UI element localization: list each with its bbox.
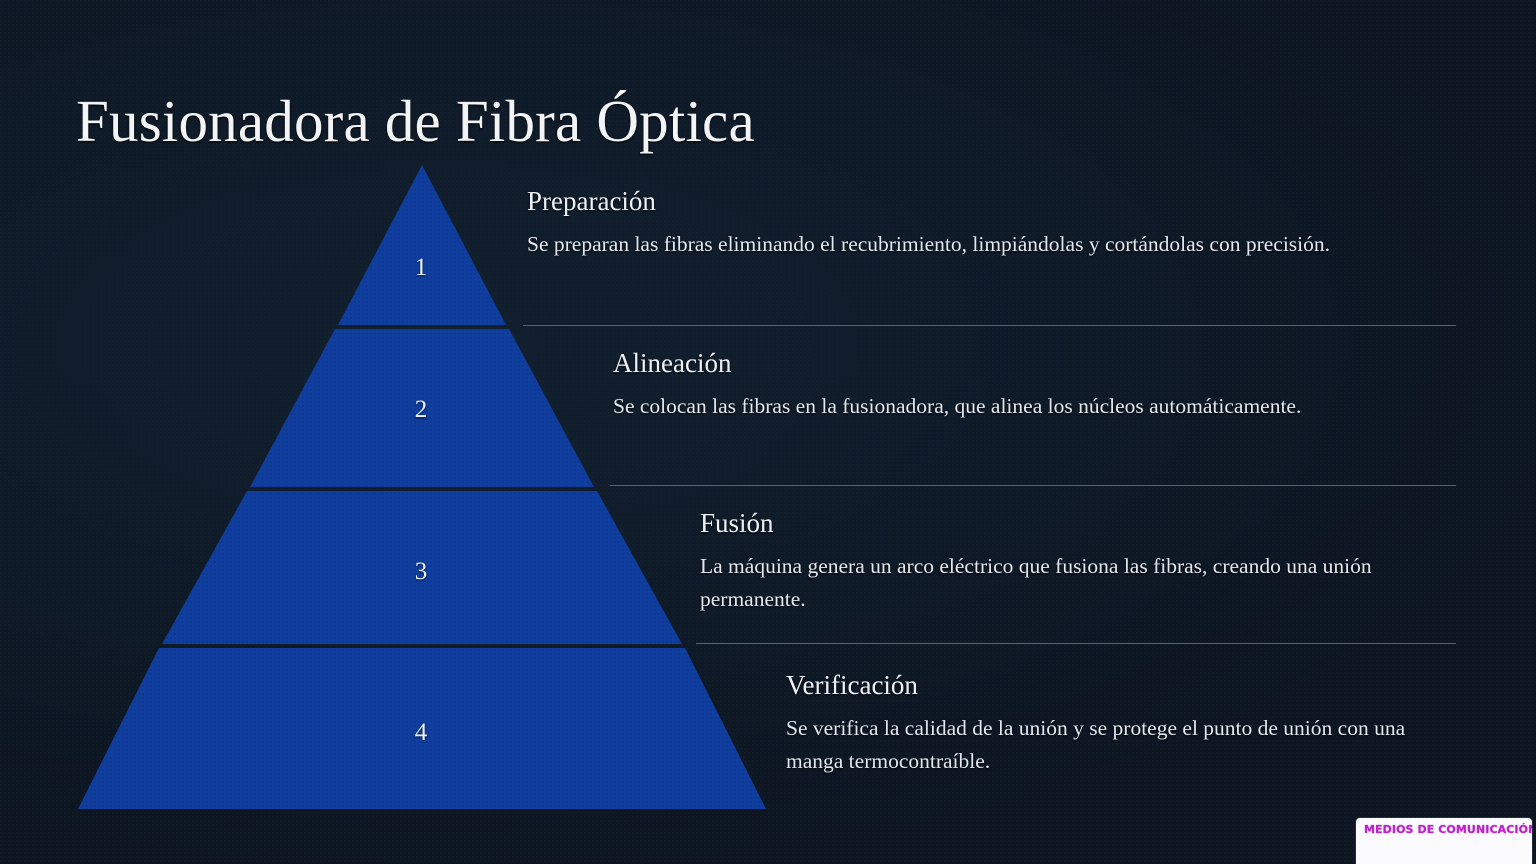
- pyramid-diagram: 1 2 3 4: [78, 165, 766, 809]
- pyramid-level-1: [338, 165, 506, 325]
- page-title: Fusionadora de Fibra Óptica: [76, 92, 755, 151]
- step-body-2: Se colocan las fibras en la fusionadora,…: [613, 390, 1453, 423]
- pyramid-number-3: 3: [381, 559, 461, 584]
- divider-2: [610, 485, 1456, 486]
- step-heading-2: Alineación: [613, 348, 1453, 379]
- pyramid-number-2: 2: [381, 397, 461, 422]
- step-body-4: Se verifica la calidad de la unión y se …: [786, 712, 1446, 779]
- step-item-1: Preparación Se preparan las fibras elimi…: [527, 186, 1427, 261]
- pyramid-number-4: 4: [381, 720, 461, 745]
- pyramid-number-1: 1: [381, 255, 461, 280]
- step-body-3: La máquina genera un arco eléctrico que …: [700, 550, 1445, 617]
- divider-1: [523, 325, 1456, 326]
- step-item-4: Verificación Se verifica la calidad de l…: [786, 670, 1446, 779]
- divider-3: [696, 643, 1456, 644]
- slide-canvas: Fusionadora de Fibra Óptica 1 2 3 4: [0, 0, 1536, 864]
- step-heading-4: Verificación: [786, 670, 1446, 701]
- step-item-3: Fusión La máquina genera un arco eléctri…: [700, 508, 1445, 617]
- step-heading-1: Preparación: [527, 186, 1427, 217]
- step-body-1: Se preparan las fibras eliminando el rec…: [527, 228, 1427, 261]
- step-heading-3: Fusión: [700, 508, 1445, 539]
- watermark-label: MEDIOS DE COMUNICACIÓN: [1364, 823, 1524, 836]
- watermark-badge: MEDIOS DE COMUNICACIÓN: [1356, 818, 1532, 864]
- step-item-2: Alineación Se colocan las fibras en la f…: [613, 348, 1453, 423]
